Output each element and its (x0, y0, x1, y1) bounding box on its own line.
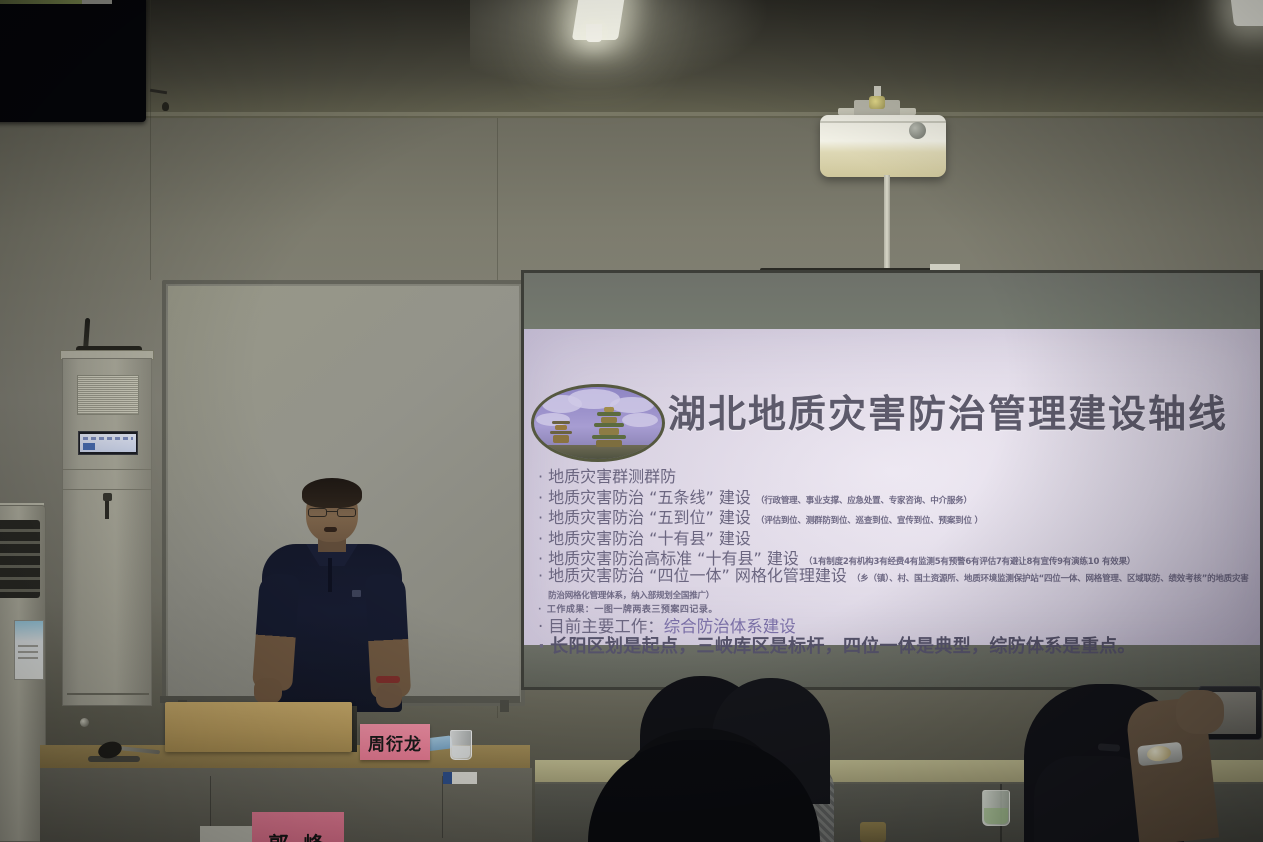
bullet-marker: · (538, 531, 543, 548)
bullet-marker: · (538, 510, 543, 527)
white-paper (200, 826, 255, 842)
key-icon[interactable] (105, 501, 109, 519)
bullet-marker: · (538, 469, 543, 486)
speaker-name-text: 周衍龙 (368, 730, 422, 755)
bullet-subtext: （评估到位、测群防到位、巡查到位、宣传到位、预案到位 ） (756, 516, 983, 526)
glasses-lens-right (337, 508, 356, 517)
ac-label-line (18, 645, 38, 647)
bullet-text: 地质灾害防治 “十有县” 建设 (548, 531, 1254, 548)
cabinet-divider (63, 489, 151, 490)
water-cup (450, 730, 472, 760)
desk-panel-seam (442, 776, 443, 838)
ac-grille (0, 520, 40, 598)
ceiling (0, 0, 1263, 118)
slide-bullet-item: · 目前主要工作：综合防治体系建设 (538, 618, 1254, 635)
bullet-marker: · (538, 618, 543, 635)
presenter-left-hand (254, 678, 282, 704)
equipment-cabinet (62, 358, 152, 706)
presenter-person (248, 478, 414, 728)
podium-knob (80, 718, 89, 727)
presentation-slide: 湖北地质灾害防治管理建设轴线 · 地质灾害群测群防 · 地质灾害防治 “五条线”… (524, 329, 1260, 645)
pagoda-tower-small-icon (550, 421, 572, 443)
bullet-text: 地质灾害防治 “五到位” 建设 (548, 508, 751, 527)
slide-bullet-item-small: · 工作成果：一图一牌两表三预案四记录。 (538, 606, 1254, 615)
glasses-lens-left (308, 508, 327, 517)
cabinet-display-screen (80, 434, 136, 452)
work-line-highlight: 综合防治体系建设 (664, 617, 796, 636)
screen-top-margin (524, 273, 1260, 329)
presenter-right-hand (376, 684, 402, 708)
cloud-shape (622, 413, 658, 427)
bullet-marker: · (538, 490, 543, 507)
projector-seam (820, 121, 946, 123)
bullet-marker: · (538, 551, 543, 568)
lecture-room-photo: 湖北地质灾害防治管理建设轴线 · 地质灾害群测群防 · 地质灾害防治 “五条线”… (0, 0, 1263, 842)
bullet-text: 长阳区划是起点，三峡库区是标杆，四位一体是典型，综防体系是重点。 (550, 638, 1254, 657)
cabinet-vent-grille (77, 375, 139, 415)
audience-tea-cup (860, 822, 886, 842)
audience-water-cup (982, 790, 1010, 826)
panel-green-strip (0, 0, 82, 4)
bullet-text: 地质灾害防治高标准 “十有县” 建设 (548, 549, 799, 568)
cabinet-display (78, 431, 138, 455)
bullet-marker: · (538, 606, 542, 615)
slide-bullet-list: · 地质灾害群测群防 · 地质灾害防治 “五条线” 建设 （行政管理、事业支撑、… (538, 469, 1254, 657)
presenter-shirt-logo (352, 590, 361, 597)
presenter-shirt-placket (328, 558, 332, 592)
bullet-subtext: （行政管理、事业支撑、应急处置、专家咨询、中介服务） (756, 496, 972, 506)
projector-cable (884, 175, 890, 273)
whiteboard-leg (500, 700, 509, 712)
bullet-text-wrap: 地质灾害防治 “四位一体” 网格化管理建设 （乡（镇）、村、国土资源所、地质环境… (548, 568, 1254, 601)
slide-bullet-item: · 地质灾害防治 “十有县” 建设 (538, 531, 1254, 548)
slide-bullet-item: · 地质灾害防治 “五到位” 建设 （评估到位、测群防到位、巡查到位、宣传到位、… (538, 510, 1254, 527)
pagoda-tower-icon (592, 407, 626, 447)
bullet-text-wrap: 地质灾害防治 “五条线” 建设 （行政管理、事业支撑、应急处置、专家咨询、中介服… (548, 490, 1254, 507)
cabinet-bottom-seam (67, 693, 149, 695)
ceiling-edge (0, 112, 1263, 116)
projector-mount-knob (869, 96, 885, 109)
speaker-name-card: 周衍龙 (360, 724, 430, 760)
logo-ground (534, 445, 662, 459)
glasses-bridge (327, 511, 337, 512)
wall-hook (150, 88, 168, 100)
ac-label-line (18, 651, 38, 653)
slide-title: 湖北地质灾害防治管理建设轴线 (668, 383, 1228, 438)
secondary-name-card: 郭 峰 (252, 812, 344, 842)
projection-screen: 湖北地质灾害防治管理建设轴线 · 地质灾害群测群防 · 地质灾害防治 “五条线”… (521, 270, 1263, 690)
glasses-icon (308, 508, 356, 517)
secondary-name-text: 郭 峰 (269, 828, 328, 842)
glasses-icon (1098, 743, 1120, 752)
ceiling-dark-panel (0, 0, 146, 122)
cabinet-divider (63, 469, 151, 470)
bullet-text: 地质灾害群测群防 (548, 469, 1254, 486)
bullet-text-wrap: 目前主要工作：综合防治体系建设 (548, 618, 1254, 635)
slide-bullet-item: · 地质灾害群测群防 (538, 469, 1254, 486)
ac-label-sticker (14, 620, 44, 680)
audience-hand (1176, 690, 1224, 734)
bullet-subtext: （1有制度2有机构3有经费4有监测5有预警6有评估7有避让8有宣传9有演练10 … (804, 557, 1135, 567)
bullet-text: 地质灾害防治 “五条线” 建设 (548, 488, 751, 507)
yellow-crane-tower-logo-icon (531, 384, 665, 462)
bullet-text: 地质灾害防治 “四位一体” 网格化管理建设 (548, 566, 847, 585)
ceiling-projector (820, 115, 946, 177)
ac-label-line (18, 657, 38, 659)
slide-bullet-item-final: · 长阳区划是起点，三峡库区是标杆，四位一体是典型，综防体系是重点。 (538, 638, 1254, 657)
podium (165, 702, 352, 752)
desk-sticker (443, 772, 477, 784)
work-line-prefix: 目前主要工作： (548, 617, 664, 636)
presenter-wrist-band (376, 676, 400, 683)
bullet-text-wrap: 地质灾害防治高标准 “十有县” 建设 （1有制度2有机构3有经费4有监测5有预警… (548, 551, 1254, 568)
fluorescent-light (1230, 0, 1263, 26)
panel-gray-strip (82, 0, 112, 4)
bullet-marker: · (538, 568, 543, 585)
slide-bullet-item: · 地质灾害防治 “五条线” 建设 （行政管理、事业支撑、应急处置、专家咨询、中… (538, 490, 1254, 507)
slide-bullet-item: · 地质灾害防治 “四位一体” 网格化管理建设 （乡（镇）、村、国土资源所、地质… (538, 568, 1254, 601)
bullet-text-wrap: 地质灾害防治 “五到位” 建设 （评估到位、测群防到位、巡查到位、宣传到位、预案… (548, 510, 1254, 527)
presenter-left-arm (252, 573, 300, 692)
presenter-mouth (324, 527, 337, 532)
bullet-marker: · (538, 638, 545, 657)
wall-seam (150, 0, 151, 280)
presenter-hair (302, 478, 362, 508)
fluorescent-light-core (586, 24, 602, 42)
lock-icon[interactable] (103, 493, 112, 501)
slide-bullet-item: · 地质灾害防治高标准 “十有县” 建设 （1有制度2有机构3有经费4有监测5有… (538, 551, 1254, 568)
projector-lens-icon (909, 122, 926, 139)
bullet-text: 工作成果：一图一牌两表三预案四记录。 (547, 606, 1254, 615)
